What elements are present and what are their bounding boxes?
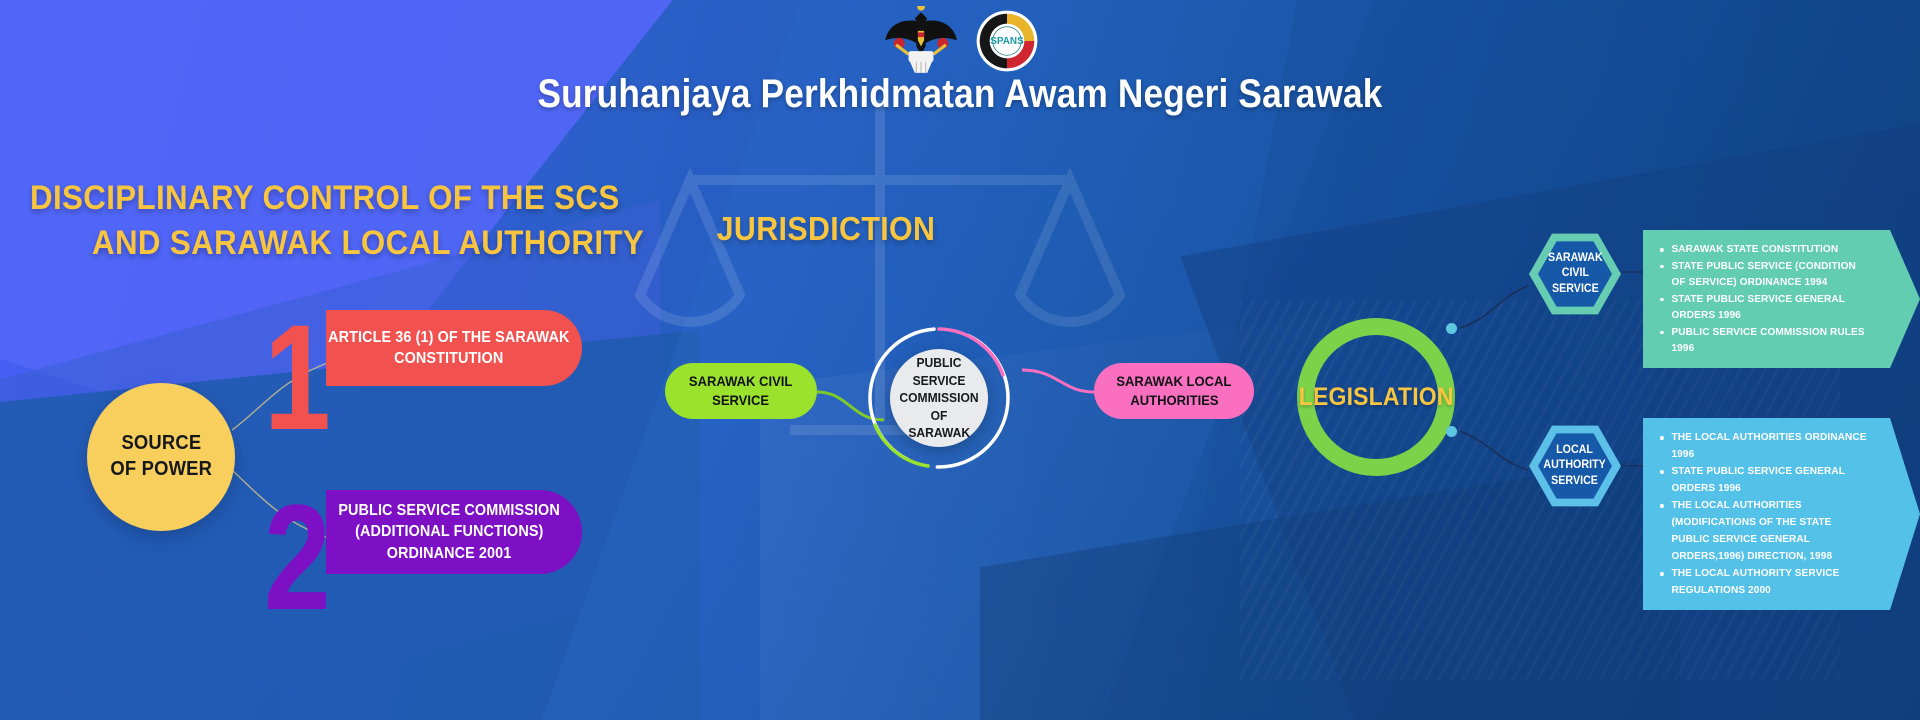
legislation-list-local-authority: THE LOCAL AUTHORITIES ORDINANCE 1996 STA…	[1643, 418, 1920, 610]
jurisdiction-center-line-1: PUBLIC SERVICE	[893, 354, 984, 389]
jurisdiction-tag-sarawak-local-authorities[interactable]: SARAWAK LOCAL AUTHORITIES	[1094, 363, 1254, 419]
tag-sla-line-2: AUTHORITIES	[1130, 391, 1218, 410]
list-item: PUBLIC SERVICE COMMISSION RULES 1996	[1659, 324, 1871, 357]
source-of-power-line-2: OF POWER	[110, 457, 212, 483]
tag-scs-line-2: SERVICE	[713, 391, 770, 410]
source-item-1-line-1: ARTICLE 36 (1) OF THE SARAWAK	[328, 327, 569, 348]
hexagon-sarawak-civil-service[interactable]: SARAWAK CIVIL SERVICE	[1529, 232, 1621, 316]
source-item-1-pill[interactable]: ARTICLE 36 (1) OF THE SARAWAK CONSTITUTI…	[326, 310, 582, 386]
hexagon-top-label: SARAWAK CIVIL SERVICE	[1548, 251, 1603, 297]
hexagon-local-authority-service[interactable]: LOCAL AUTHORITY SERVICE	[1529, 424, 1621, 508]
legislation-title: LEGISLATION	[1299, 383, 1454, 412]
jurisdiction-title: JURISDICTION	[697, 210, 955, 248]
list-item: SARAWAK STATE CONSTITUTION	[1659, 241, 1871, 258]
tag-scs-line-1: SARAWAK CIVIL	[689, 372, 792, 391]
legislation-connector-dot-bottom	[1446, 426, 1457, 437]
source-item-1-line-2: CONSTITUTION	[394, 348, 503, 369]
list-item: THE LOCAL AUTHORITY SERVICE REGULATIONS …	[1659, 565, 1871, 599]
source-item-2-number: 2	[264, 482, 326, 632]
infographic-canvas: SPANS Suruhanjaya Perkhidmatan Awam Nege…	[0, 0, 1920, 720]
legislation-list-civil-service: SARAWAK STATE CONSTITUTION STATE PUBLIC …	[1643, 230, 1920, 368]
hexagon-top-line-3: SERVICE	[1548, 282, 1603, 297]
sarawak-state-crest-icon	[882, 6, 960, 76]
hexagon-top-line-2: CIVIL	[1548, 266, 1603, 281]
list-item: THE LOCAL AUTHORITIES (MODIFICATIONS OF …	[1659, 497, 1871, 565]
hexagon-bottom-line-1: LOCAL	[1544, 443, 1606, 458]
source-item-2-pill[interactable]: PUBLIC SERVICE COMMISSION (ADDITIONAL FU…	[326, 490, 582, 574]
heading-line-1: DISCIPLINARY CONTROL OF THE SCS	[30, 176, 545, 221]
legislation-list-civil-service-items: SARAWAK STATE CONSTITUTION STATE PUBLIC …	[1659, 241, 1880, 357]
legislation-list-local-authority-items: THE LOCAL AUTHORITIES ORDINANCE 1996 STA…	[1659, 429, 1880, 599]
list-item: THE LOCAL AUTHORITIES ORDINANCE 1996	[1659, 429, 1871, 463]
source-item-2-line-3: ORDINANCE 2001	[387, 543, 512, 564]
jurisdiction-center-node[interactable]: PUBLIC SERVICE COMMISSION OF SARAWAK	[890, 349, 988, 447]
hexagon-top-line-1: SARAWAK	[1548, 251, 1603, 266]
source-of-power-line-1: SOURCE	[121, 431, 201, 457]
jurisdiction-tag-sarawak-civil-service[interactable]: SARAWAK CIVIL SERVICE	[665, 363, 817, 419]
source-item-1-number: 1	[264, 302, 326, 452]
spans-logo-icon: SPANS	[976, 10, 1038, 72]
hexagon-bottom-line-2: AUTHORITY	[1544, 458, 1606, 473]
list-item: STATE PUBLIC SERVICE GENERAL ORDERS 1996	[1659, 291, 1871, 324]
hexagon-bottom-line-3: SERVICE	[1544, 474, 1606, 489]
jurisdiction-center-line-3: SARAWAK	[908, 424, 970, 442]
legislation-connector-dot-top	[1446, 323, 1457, 334]
tag-sla-line-1: SARAWAK LOCAL	[1116, 372, 1231, 391]
spans-logo-text: SPANS	[990, 36, 1024, 47]
jurisdiction-center-line-2: COMMISSION OF	[893, 389, 984, 424]
hexagon-bottom-label: LOCAL AUTHORITY SERVICE	[1544, 443, 1606, 489]
crest-group: SPANS	[0, 6, 1920, 76]
legislation-node[interactable]: LEGISLATION	[1297, 318, 1455, 476]
page-title: Suruhanjaya Perkhidmatan Awam Negeri Sar…	[115, 72, 1805, 117]
list-item: STATE PUBLIC SERVICE (CONDITION OF SERVI…	[1659, 258, 1871, 291]
source-of-power-node[interactable]: SOURCE OF POWER	[87, 383, 235, 531]
heading-line-2: AND SARAWAK LOCAL AUTHORITY	[92, 221, 550, 266]
list-item: STATE PUBLIC SERVICE GENERAL ORDERS 1996	[1659, 463, 1871, 497]
source-item-2-line-1: PUBLIC SERVICE COMMISSION	[338, 500, 560, 521]
left-heading-block: DISCIPLINARY CONTROL OF THE SCS AND SARA…	[30, 176, 590, 266]
source-item-2-line-2: (ADDITIONAL FUNCTIONS)	[355, 521, 543, 542]
